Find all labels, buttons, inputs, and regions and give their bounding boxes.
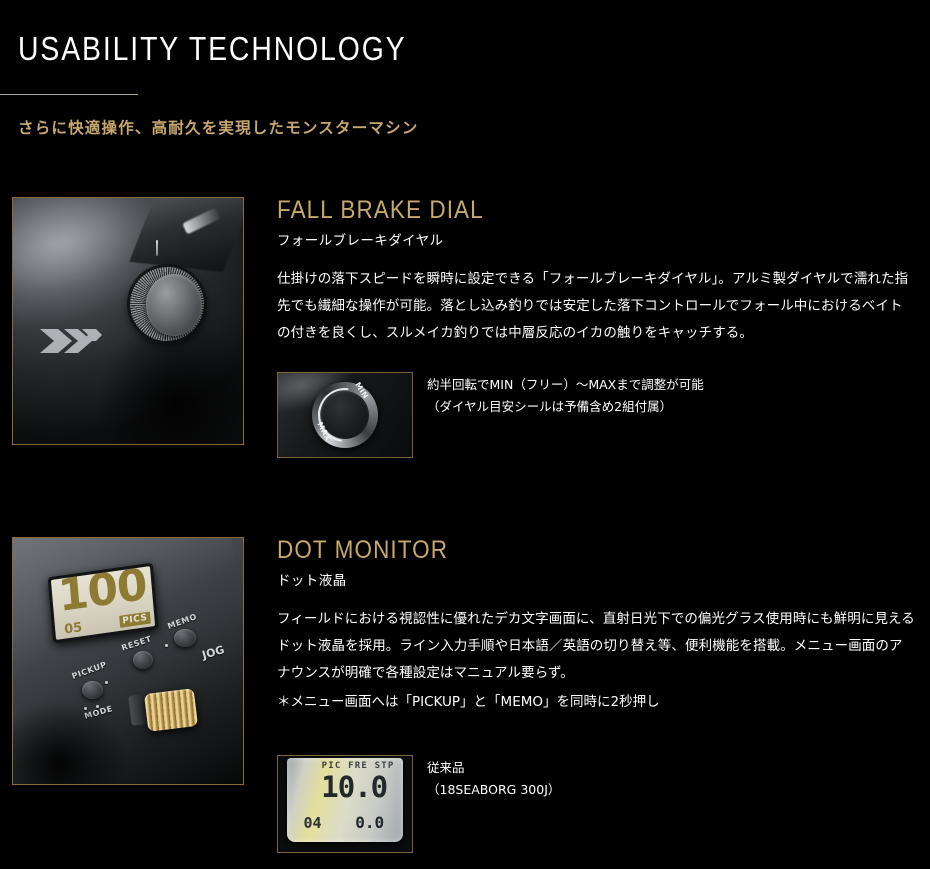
fall-brake-title: FALL BRAKE DIAL <box>277 197 853 225</box>
dot-monitor-subfigure: PIC FRE STP 10.0 04 0.0 従来品 （18SEABORG 3… <box>277 755 560 853</box>
fall-brake-subfigure: MIN MAX 約半回転でMIN（フリー）〜MAXまで調整が可能 （ダイヤル目安… <box>277 372 704 458</box>
daiwa-logo-icon <box>38 321 102 361</box>
legacy-lcd-main-value: 10.0 <box>321 773 387 802</box>
title-divider <box>0 94 138 95</box>
page-subtitle: さらに快適操作、高耐久を実現したモンスターマシン <box>18 116 930 138</box>
legacy-lcd-right-value: 0.0 <box>355 813 384 832</box>
fall-brake-caption: 約半回転でMIN（フリー）〜MAXまで調整が可能 （ダイヤル目安シールは予備含め… <box>427 372 704 418</box>
reset-button <box>133 651 153 669</box>
fall-brake-description: 仕掛けの落下スピードを瞬時に設定できる「フォールブレーキダイヤル」。アルミ製ダイ… <box>277 266 915 347</box>
dot-monitor-caption: 従来品 （18SEABORG 300J） <box>427 755 560 801</box>
pickup-button <box>82 681 103 699</box>
legacy-lcd-panel: PIC FRE STP 10.0 04 0.0 <box>287 758 402 842</box>
indicator-dot <box>165 644 168 647</box>
dot-monitor-text-column: DOT MONITOR ドット液晶 フィールドにおける視認性に優れたデカ文字画面… <box>277 537 917 716</box>
section-dot-monitor: 100 05 PICS PICKUP MODE RESET MEMO JOG <box>0 537 930 857</box>
dial-index-tick <box>156 240 158 256</box>
memo-button <box>174 629 196 647</box>
dot-monitor-subtitle: ドット液晶 <box>277 569 917 589</box>
fall-brake-subtitle: フォールブレーキダイヤル <box>277 229 917 249</box>
gold-jog-knob <box>144 688 198 732</box>
dot-monitor-main-photo: 100 05 PICS PICKUP MODE RESET MEMO JOG <box>12 537 244 785</box>
fall-brake-text-column: FALL BRAKE DIAL フォールブレーキダイヤル 仕掛けの落下スピードを… <box>277 197 917 347</box>
lcd-primary-value: 100 <box>56 566 148 619</box>
fall-brake-main-photo <box>12 197 244 445</box>
monitor-shadow <box>13 700 128 784</box>
lcd-mode-tag: PICS <box>119 612 151 628</box>
fall-brake-dial-photo: MIN MAX <box>277 372 413 458</box>
legacy-lcd-photo: PIC FRE STP 10.0 04 0.0 <box>277 755 413 853</box>
dot-monitor-description: フィールドにおける視認性に優れたデカ文字画面に、直射日光下での偏光グラス使用時に… <box>277 606 915 687</box>
dot-monitor-note: ＊メニュー画面へは「PICKUP」と「MEMO」を同時に2秒押し <box>277 689 917 716</box>
section-fall-brake-dial: FALL BRAKE DIAL フォールブレーキダイヤル 仕掛けの落下スピードを… <box>0 197 930 517</box>
lcd-secondary-value: 05 <box>63 620 82 637</box>
lcd-screen: 100 05 PICS <box>51 566 155 640</box>
page-title: USABILITY TECHNOLOGY <box>18 30 802 68</box>
dot-monitor-title: DOT MONITOR <box>277 537 853 565</box>
page-header: USABILITY TECHNOLOGY さらに快適操作、高耐久を実現したモンス… <box>0 0 930 138</box>
indicator-dot <box>105 681 108 684</box>
legacy-lcd-left-value: 04 <box>304 814 322 832</box>
